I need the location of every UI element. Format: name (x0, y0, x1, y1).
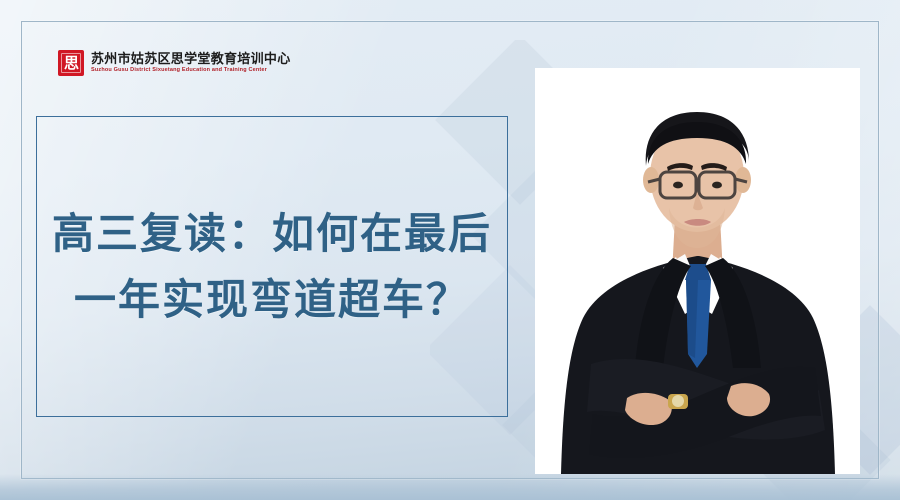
brand-logo: 思 苏州市姑苏区思学堂教育培训中心 Suzhou Gusu District S… (58, 50, 291, 76)
headline-line-2: 一年实现弯道超车？ (74, 279, 470, 321)
instructor-portrait-image (535, 68, 860, 474)
portrait-panel (535, 68, 860, 474)
logo-seal-glyph: 思 (60, 52, 82, 74)
brand-name-en: Suzhou Gusu District Sixuetang Education… (91, 67, 295, 74)
bottom-gradient-band (0, 474, 900, 500)
brand-text-block: 苏州市姑苏区思学堂教育培训中心 Suzhou Gusu District Six… (91, 52, 291, 74)
headline-box: 高三复读：如何在最后 一年实现弯道超车？ (36, 116, 508, 417)
brand-name-cn: 苏州市姑苏区思学堂教育培训中心 (91, 52, 291, 66)
headline-line-1: 高三复读：如何在最后 (52, 213, 492, 255)
logo-seal-icon: 思 (58, 50, 84, 76)
poster-canvas: 思 苏州市姑苏区思学堂教育培训中心 Suzhou Gusu District S… (0, 0, 900, 500)
